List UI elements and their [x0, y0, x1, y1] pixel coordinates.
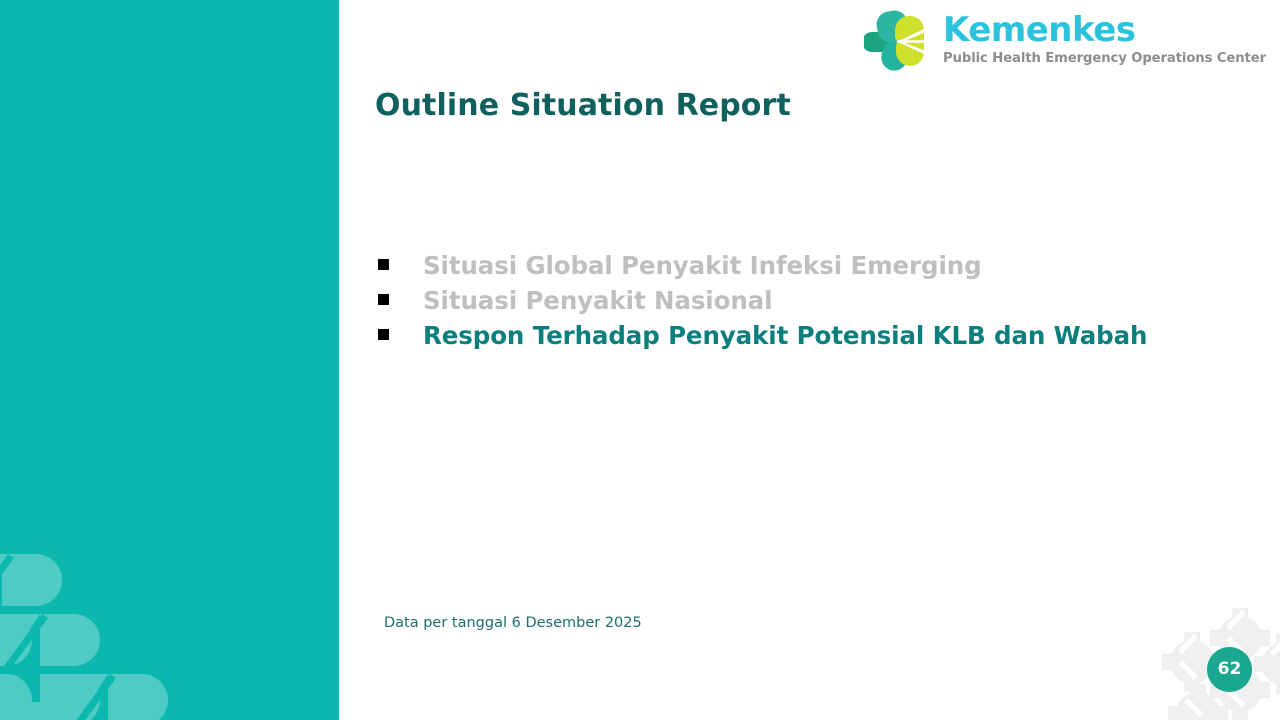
logo-tagline: Public Health Emergency Operations Cente…: [943, 52, 1266, 65]
petal-pattern-icon: [0, 536, 202, 720]
page-number-text: 62: [1218, 661, 1242, 678]
square-bullet-icon: [378, 259, 389, 270]
outline-item-2[interactable]: Situasi Penyakit Nasional: [378, 286, 1238, 321]
page-number-badge: 62: [1207, 647, 1252, 692]
footer-data-date: Data per tanggal 6 Desember 2025: [384, 615, 642, 631]
logo-wordmark: Kemenkes: [943, 13, 1136, 49]
outline-item-label: Situasi Global Penyakit Infeksi Emerging: [423, 251, 982, 280]
outline-item-1[interactable]: Situasi Global Penyakit Infeksi Emerging: [378, 251, 1238, 286]
square-bullet-icon: [378, 294, 389, 305]
kemenkes-clover-icon: [864, 6, 934, 72]
kemenkes-logo: Kemenkes Public Health Emergency Operati…: [864, 6, 1266, 72]
page-title: Outline Situation Report: [375, 88, 791, 123]
outline-item-label: Respon Terhadap Penyakit Potensial KLB d…: [423, 321, 1147, 350]
outline-list: Situasi Global Penyakit Infeksi Emerging…: [378, 251, 1238, 356]
outline-item-3[interactable]: Respon Terhadap Penyakit Potensial KLB d…: [378, 321, 1238, 356]
logo-text: Kemenkes Public Health Emergency Operati…: [943, 13, 1266, 65]
sidebar-panel: [0, 0, 339, 720]
outline-item-label: Situasi Penyakit Nasional: [423, 286, 772, 315]
square-bullet-icon: [378, 329, 389, 340]
slide-canvas: Kemenkes Public Health Emergency Operati…: [0, 0, 1280, 720]
